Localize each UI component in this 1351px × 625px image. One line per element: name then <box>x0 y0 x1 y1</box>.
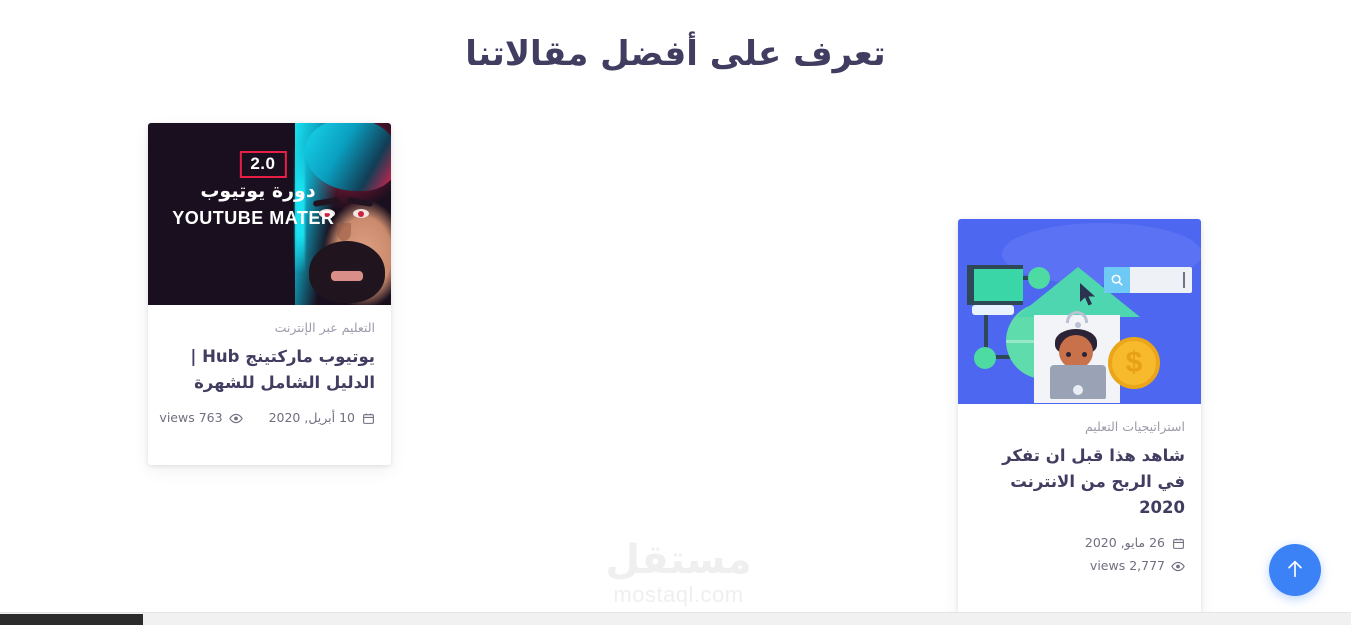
article-card[interactable]: 2.0 دورة يوتيوب YOUTUBE MATER التعليم عب… <box>148 123 391 465</box>
network-node <box>974 347 996 369</box>
character-hair <box>305 123 391 191</box>
scrollbar-thumb[interactable] <box>0 614 143 625</box>
eye-icon <box>229 411 243 425</box>
article-body: استراتيجيات التعليم شاهد هذا قبل ان تفكر… <box>958 404 1201 590</box>
article-date-text: 10 أبريل, 2020 <box>269 410 355 426</box>
eye-icon <box>1171 559 1185 573</box>
dollar-coin-icon: $ <box>1108 337 1160 389</box>
horizontal-scrollbar[interactable] <box>0 612 1351 625</box>
article-views-text: 2,777 views <box>1090 558 1165 574</box>
watermark: مستقل mostaql.com <box>596 538 761 608</box>
article-category[interactable]: التعليم عبر الإنترنت <box>164 319 375 337</box>
youtube-course-cover-art: 2.0 دورة يوتيوب YOUTUBE MATER <box>148 123 391 305</box>
article-thumbnail[interactable]: 2.0 دورة يوتيوب YOUTUBE MATER <box>148 123 391 305</box>
character-brow-right <box>313 197 340 207</box>
article-meta: 10 أبريل, 2020 763 views <box>164 410 375 426</box>
person-eye-right <box>1082 352 1087 357</box>
arrow-up-icon <box>1284 557 1306 584</box>
watermark-arabic: مستقل <box>596 538 761 582</box>
article-views: 2,777 views <box>1090 558 1185 574</box>
character-nose <box>337 223 351 241</box>
article-body: التعليم عبر الإنترنت يوتيوب ماركتينج Hub… <box>148 305 391 442</box>
article-category[interactable]: استراتيجيات التعليم <box>974 418 1185 436</box>
article-title[interactable]: شاهد هذا قبل ان تفكر في الربح من الانترن… <box>974 443 1185 521</box>
calendar-icon <box>1171 536 1185 550</box>
person-head <box>1059 335 1093 369</box>
monitor-icon <box>967 265 1023 305</box>
scroll-to-top-button[interactable] <box>1269 544 1321 596</box>
laptop-icon <box>1050 365 1106 399</box>
text-caret <box>1183 272 1185 288</box>
version-badge: 2.0 <box>239 151 286 178</box>
article-date: 26 مايو, 2020 <box>1085 535 1185 551</box>
character-mouth <box>329 269 365 283</box>
calendar-icon <box>361 411 375 425</box>
article-meta: 26 مايو, 2020 2,777 views <box>974 535 1185 574</box>
character-eye-left <box>353 209 369 218</box>
article-card[interactable]: $ استراتيجيات التعليم شاهد هذا قبل ان تف… <box>958 219 1201 615</box>
character-brow-left <box>347 197 374 207</box>
cover-english-title: YOUTUBE MATER <box>172 208 334 229</box>
search-bar-graphic <box>1104 267 1192 293</box>
article-thumbnail[interactable]: $ <box>958 219 1201 404</box>
article-date: 10 أبريل, 2020 <box>269 410 375 426</box>
work-from-home-illustration: $ <box>958 219 1201 404</box>
monitor-stand <box>972 305 1014 315</box>
watermark-latin: mostaql.com <box>596 582 761 608</box>
article-date-text: 26 مايو, 2020 <box>1085 535 1165 551</box>
character-pupil-left <box>358 211 364 217</box>
cover-arabic-title: دورة يوتيوب <box>200 180 315 202</box>
article-views-text: 763 views <box>159 410 222 426</box>
article-views: 763 views <box>159 410 242 426</box>
page-title: تعرف على أفضل مقالاتنا <box>0 30 1351 78</box>
search-icon <box>1104 267 1130 293</box>
person-eye-left <box>1066 352 1071 357</box>
article-title[interactable]: يوتيوب ماركتينج Hub | الدليل الشامل للشه… <box>164 344 375 396</box>
